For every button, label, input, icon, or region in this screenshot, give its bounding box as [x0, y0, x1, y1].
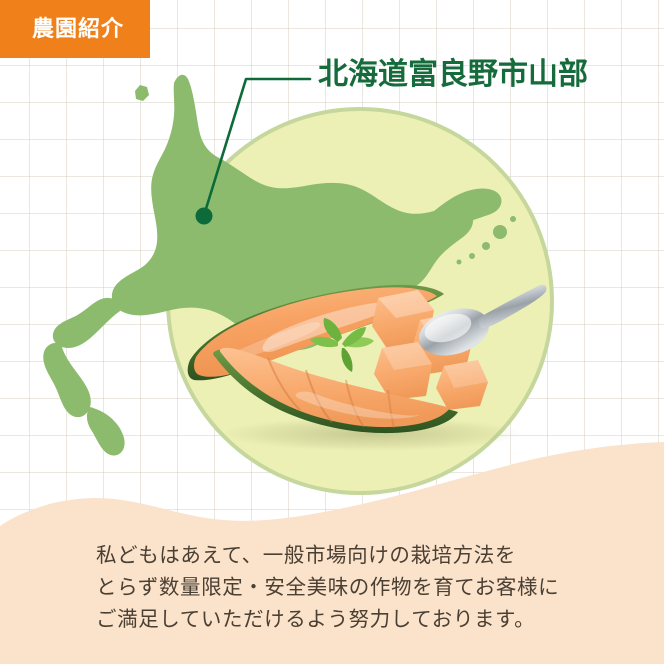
- melon-photo: [182, 262, 552, 452]
- description-line-1: 私どもはあえて、一般市場向けの栽培方法を: [96, 540, 596, 572]
- map-location-marker: [196, 208, 213, 225]
- section-badge: 農園紹介: [0, 0, 150, 58]
- description-line-2: とらず数量限定・安全美味の作物を育てお客様に: [96, 572, 596, 604]
- section-badge-label: 農園紹介: [32, 18, 124, 40]
- farm-introduction-card: 北海道富良野市山部 私どもはあえて、一般市場向けの栽培方法を とらず数量限定・安…: [0, 0, 664, 664]
- description-line-3: ご満足していただけるよう努力しております。: [96, 604, 596, 636]
- description-text: 私どもはあえて、一般市場向けの栽培方法を とらず数量限定・安全美味の作物を育てお…: [96, 540, 596, 636]
- location-heading: 北海道富良野市山部: [318, 58, 588, 91]
